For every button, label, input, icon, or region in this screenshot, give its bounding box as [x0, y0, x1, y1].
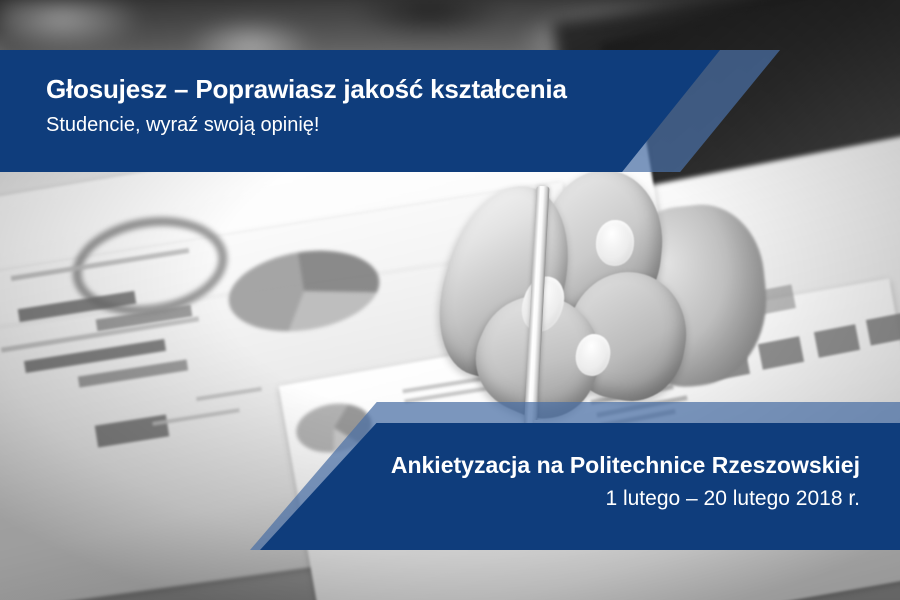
event-date-range: 1 lutego – 20 lutego 2018 r.: [220, 483, 860, 514]
bottom-banner-text: Ankietyzacja na Politechnice Rzeszowskie…: [220, 450, 860, 514]
top-banner-text: Głosujesz – Poprawiasz jakość kształceni…: [46, 72, 646, 140]
event-title: Ankietyzacja na Politechnice Rzeszowskie…: [220, 450, 860, 481]
promotional-banner: Głosujesz – Poprawiasz jakość kształceni…: [0, 0, 900, 600]
page-subtitle: Studencie, wyraź swoją opinię!: [46, 110, 646, 140]
page-title: Głosujesz – Poprawiasz jakość kształceni…: [46, 72, 646, 106]
